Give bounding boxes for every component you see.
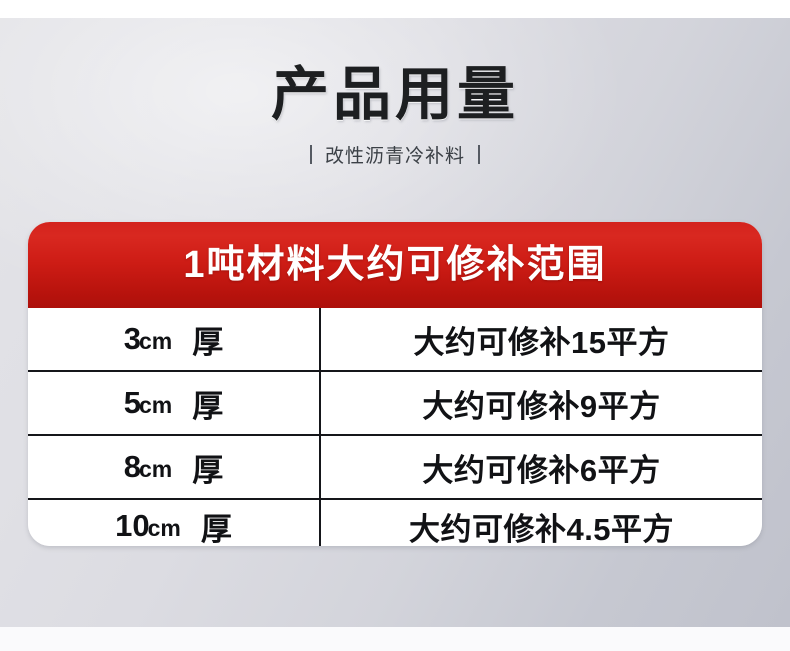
coverage-value: 大约可修补4.5平方 (409, 504, 674, 547)
thickness-word: 厚 (192, 445, 223, 490)
coverage-cell: 大约可修补9平方 (321, 372, 762, 434)
coverage-value: 大约可修补9平方 (422, 381, 660, 426)
thickness-unit: cm (148, 515, 181, 541)
page-title: 产品用量 (0, 64, 790, 125)
coverage-cell: 大约可修补15平方 (321, 308, 762, 370)
thickness-value: 10 (115, 508, 149, 543)
top-white-strip (0, 0, 790, 18)
thickness-cell: 3cm 厚 (28, 308, 321, 370)
coverage-table-card: 1吨材料大约可修补范围 3cm 厚 大约可修补15平方 5cm 厚 大约可修补9… (28, 222, 762, 546)
thickness-cell: 5cm 厚 (28, 372, 321, 434)
heading-block: 产品用量 改性沥青冷补料 (0, 64, 790, 168)
coverage-value: 大约可修补15平方 (414, 317, 670, 362)
table-row: 10cm 厚 大约可修补4.5平方 (28, 500, 762, 546)
thickness-cell: 10cm 厚 (28, 500, 321, 546)
table-row: 8cm 厚 大约可修补6平方 (28, 436, 762, 500)
table-row: 5cm 厚 大约可修补9平方 (28, 372, 762, 436)
coverage-table-body: 3cm 厚 大约可修补15平方 5cm 厚 大约可修补9平方 8cm (28, 308, 762, 546)
subtitle-divider-left-icon (310, 145, 312, 164)
product-usage-infographic: 产品用量 改性沥青冷补料 1吨材料大约可修补范围 3cm 厚 大约可修补15平方 (0, 0, 790, 651)
coverage-cell: 大约可修补6平方 (321, 436, 762, 498)
subtitle-row: 改性沥青冷补料 (0, 141, 790, 168)
thickness-word: 厚 (192, 381, 223, 426)
table-banner-label: 1吨材料大约可修补范围 (183, 246, 606, 284)
coverage-cell: 大约可修补4.5平方 (321, 500, 762, 546)
subtitle-divider-right-icon (478, 145, 480, 164)
bottom-white-strip (0, 627, 790, 651)
thickness-unit: cm (139, 456, 172, 482)
table-banner: 1吨材料大约可修补范围 (28, 222, 762, 308)
thickness-word: 厚 (192, 317, 223, 362)
page-subtitle: 改性沥青冷补料 (325, 141, 465, 168)
coverage-value: 大约可修补6平方 (422, 445, 660, 490)
table-row: 3cm 厚 大约可修补15平方 (28, 308, 762, 372)
thickness-unit: cm (139, 328, 172, 354)
thickness-cell: 8cm 厚 (28, 436, 321, 498)
thickness-unit: cm (139, 392, 172, 418)
thickness-word: 厚 (201, 504, 232, 547)
